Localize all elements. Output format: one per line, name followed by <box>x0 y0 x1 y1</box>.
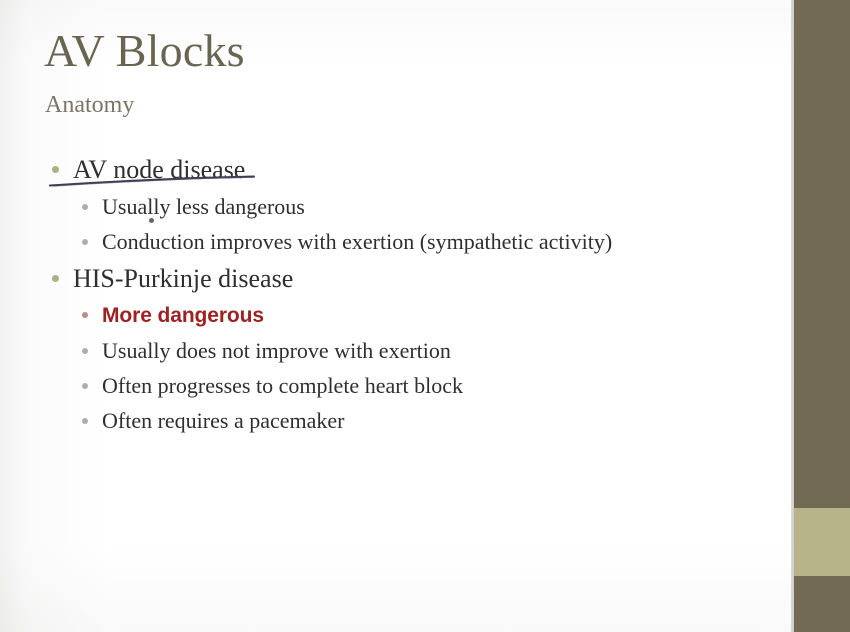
bullet-item-usually-less-dangerous: Usually less dangerous <box>52 189 772 224</box>
bullet-text: HIS-Purkinje disease <box>73 259 293 298</box>
bullet-item-his-purkinje-disease: HIS-Purkinje disease <box>52 259 772 298</box>
bullet-text: Often progresses to complete heart block <box>102 368 463 403</box>
bullet-dot-icon <box>82 312 88 318</box>
bullet-text: Usually does not improve with exertion <box>102 333 451 368</box>
bullet-item-often-progresses: Often progresses to complete heart block <box>52 368 772 403</box>
bullet-text: More dangerous <box>102 298 264 333</box>
bullet-item-conduction-improves: Conduction improves with exertion (sympa… <box>52 224 772 259</box>
slide-bullet-list: AV node disease Usually less dangerous C… <box>52 150 772 438</box>
bullet-dot-icon <box>52 166 59 173</box>
presentation-slide: AV Blocks Anatomy AV node disease Usuall… <box>0 0 850 632</box>
bullet-dot-icon <box>82 239 88 245</box>
bullet-text: Often requires a pacemaker <box>102 403 344 438</box>
bullet-text: AV node disease <box>73 150 245 189</box>
bullet-dot-icon <box>82 418 88 424</box>
bullet-dot-icon <box>82 348 88 354</box>
bullet-text: Usually less dangerous <box>102 189 305 224</box>
slide-subtitle: Anatomy <box>45 92 134 118</box>
side-decoration-accent-block <box>794 508 850 576</box>
bullet-dot-icon <box>82 383 88 389</box>
slide-title: AV Blocks <box>44 27 245 75</box>
bullet-text: Conduction improves with exertion (sympa… <box>102 224 612 259</box>
bullet-dot-icon <box>82 204 88 210</box>
bullet-dot-icon <box>52 275 59 282</box>
bullet-item-more-dangerous: More dangerous <box>52 298 772 333</box>
bullet-item-often-requires-pacemaker: Often requires a pacemaker <box>52 403 772 438</box>
bullet-item-usually-does-not-improve: Usually does not improve with exertion <box>52 333 772 368</box>
bullet-item-av-node-disease: AV node disease <box>52 150 772 189</box>
